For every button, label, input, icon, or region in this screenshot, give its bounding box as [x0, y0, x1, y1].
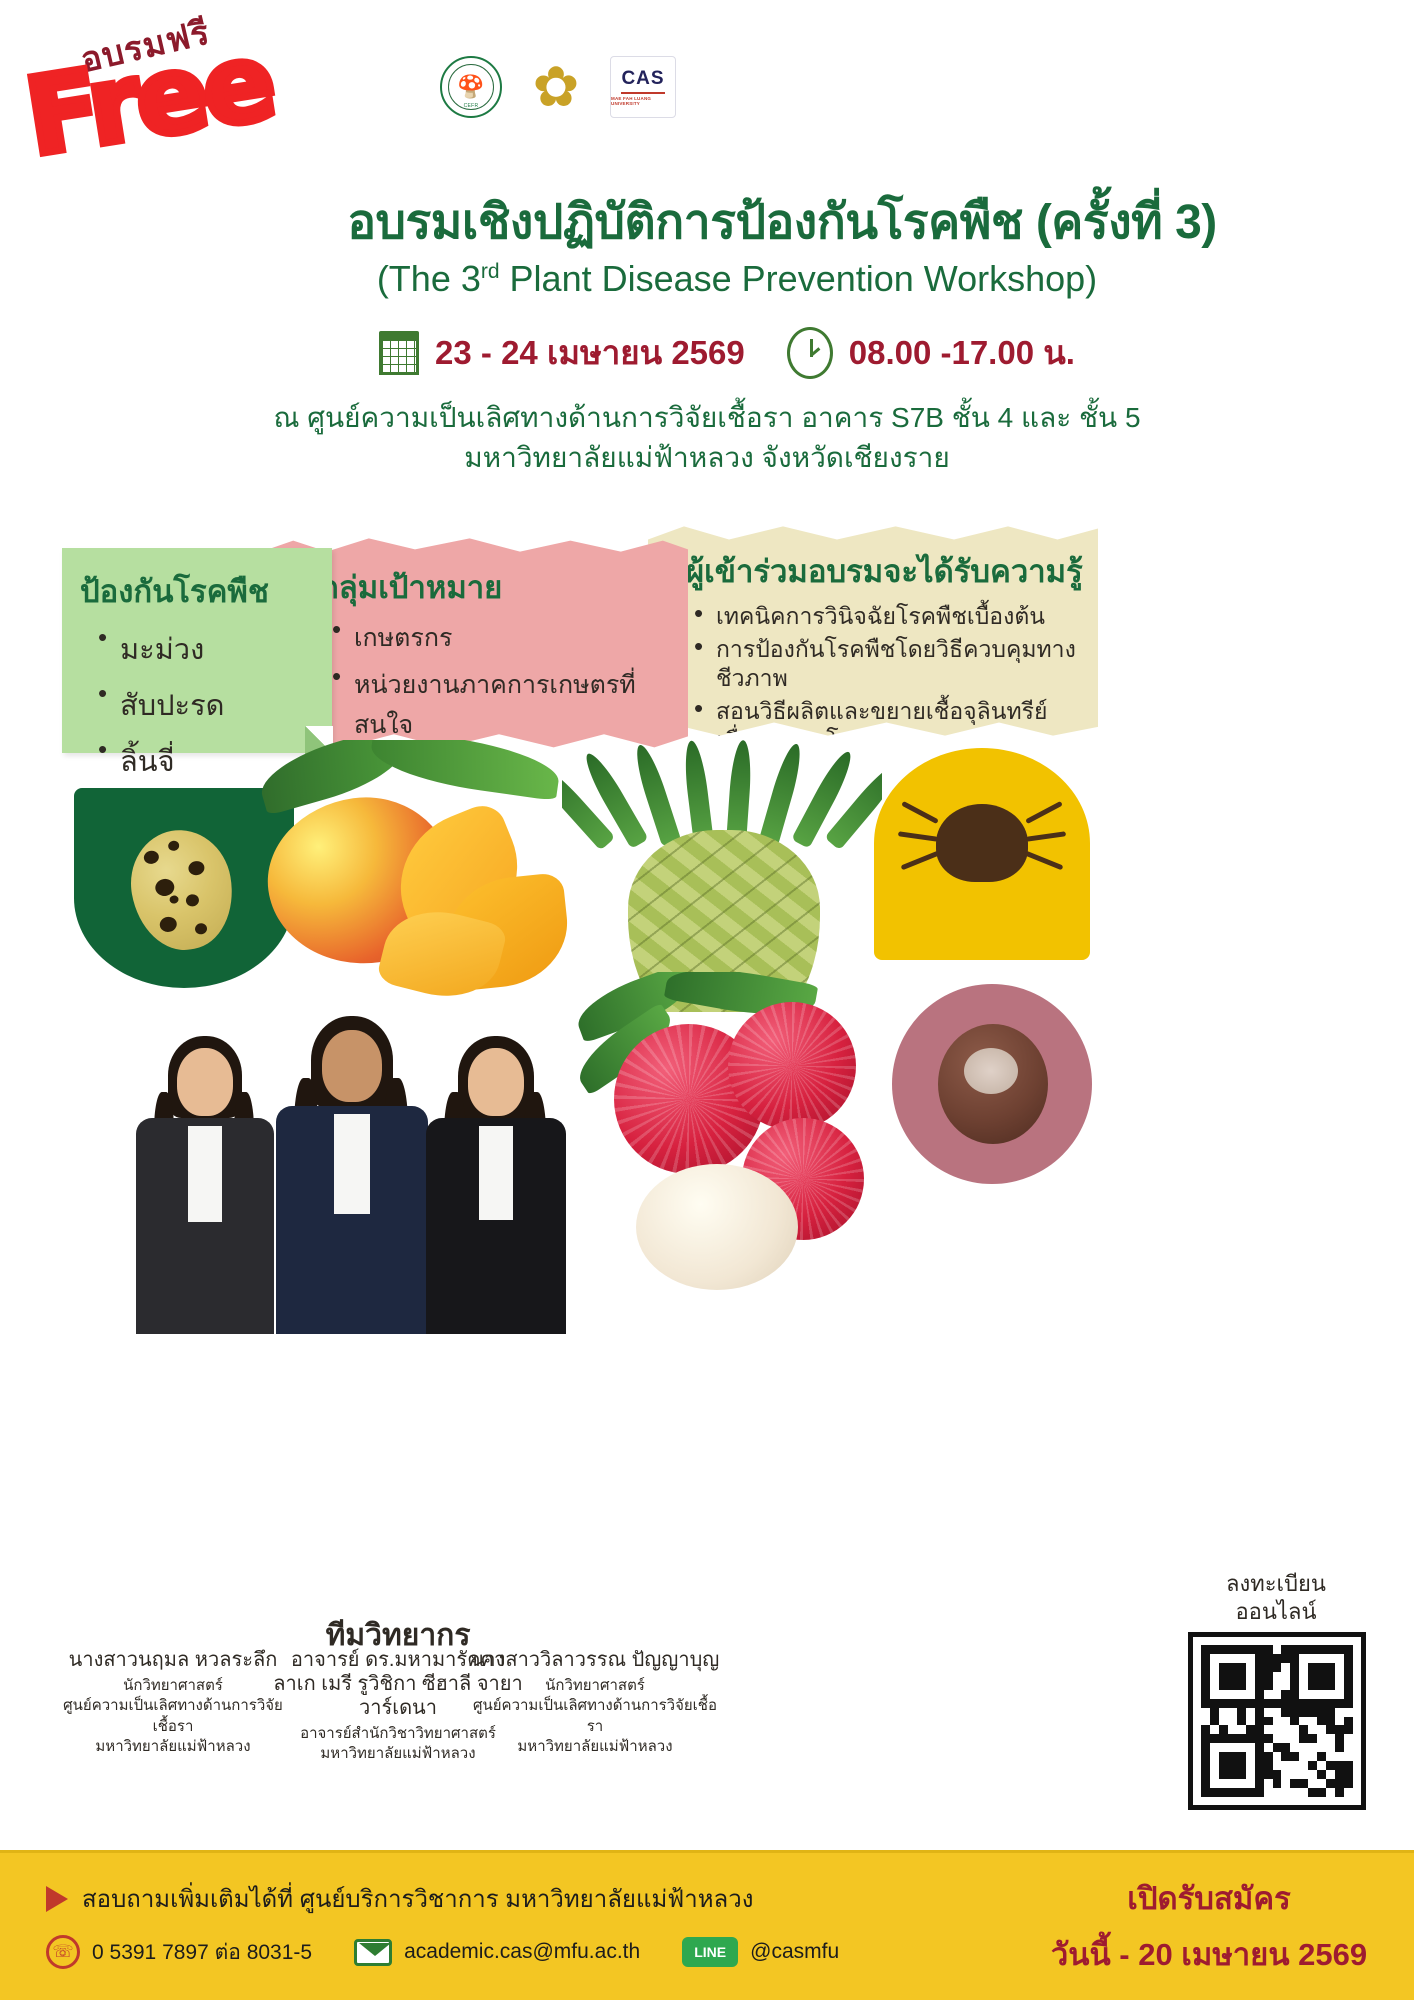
time-group: 08.00 -17.00 น. [787, 326, 1075, 379]
speaker-figure-1 [130, 1034, 280, 1334]
speaker-card-1: นางสาวนฤมล หวลระลึก นักวิทยาศาสตร์ ศูนย์… [58, 1648, 288, 1757]
footer-contact-row: ☏ 0 5391 7897 ต่อ 8031-5 academic.cas@mf… [46, 1935, 839, 1969]
free-badge-label: Free [19, 28, 278, 171]
date-group: 23 - 24 เมษายน 2569 [379, 326, 745, 379]
info-box-crops-heading: ป้องกันโรคพืช [80, 576, 269, 607]
cefr-logo-text: CEFR [442, 103, 500, 109]
footer-cta-line-1: เปิดรับสมัคร [1044, 1873, 1374, 1923]
royal-crest-icon: ✿ [528, 52, 584, 122]
peeled-lychee-image [636, 1164, 798, 1290]
qr-code-pattern [1201, 1645, 1353, 1797]
lychee-photo [570, 972, 870, 1324]
line-app-icon: LINE [682, 1937, 738, 1967]
page-subtitle: (The 3rd Plant Disease Prevention Worksh… [0, 258, 1414, 300]
cefr-logo: 🍄 CEFR [440, 56, 502, 118]
event-date: 23 - 24 เมษายน 2569 [435, 326, 745, 379]
royal-emblem-logo: ✿ [528, 52, 584, 122]
venue-line-2: มหาวิทยาลัยแม่ฟ้าหลวง จังหวัดเชียงราย [0, 438, 1414, 478]
footer-email[interactable]: academic.cas@mfu.ac.th [404, 1940, 640, 1964]
poster-root: อบรมฟรี Free 🍄 CEFR ✿ CAS MAE FAH LUANG … [0, 0, 1414, 2000]
footer-contact-intro: สอบถามเพิ่มเติมได้ที่ ศูนย์บริการวิชาการ… [82, 1879, 753, 1918]
qr-label: ลงทะเบียน ออนไลน์ [1196, 1570, 1356, 1625]
footer-cta: เปิดรับสมัคร วันนี้ - 20 เมษายน 2569 [1044, 1873, 1374, 1979]
info-box-target-group-heading: กลุ่มเป้าหมาย [320, 572, 502, 603]
cas-logo: CAS MAE FAH LUANG UNIVERSITY [610, 56, 676, 118]
speaker-name: นางสาววิลาวรรณ ปัญญาบุญ [470, 1648, 720, 1672]
free-badge: อบรมฟรี Free [9, 0, 297, 173]
qr-label-line-2: ออนไลน์ [1196, 1598, 1356, 1626]
insect-pest-image [936, 804, 1028, 882]
event-time: 08.00 -17.00 น. [849, 326, 1075, 379]
mushroom-icon: 🍄 [457, 76, 484, 98]
subtitle-post: Plant Disease Prevention Workshop) [500, 258, 1098, 299]
pest-thumbnail [874, 748, 1090, 960]
list-item: สับปะรด [92, 682, 225, 728]
list-item: เกษตรกร [326, 618, 688, 658]
image-collage [0, 740, 1414, 1620]
cas-logo-caption: MAE FAH LUANG UNIVERSITY [611, 96, 675, 106]
mango-photo [250, 740, 580, 1040]
speaker-figure-3 [420, 1034, 572, 1334]
speaker-name: นางสาวนฤมล หวลระลึก [58, 1648, 288, 1672]
speaker-role: นักวิทยาศาสตร์ ศูนย์ความเป็นเลิศทางด้านก… [470, 1676, 720, 1757]
page-title: อบรมเชิงปฏิบัติการป้องกันโรคพืช (ครั้งที… [0, 184, 1414, 260]
date-time-row: 23 - 24 เมษายน 2569 08.00 -17.00 น. [0, 326, 1414, 379]
info-box-knowledge-heading: ผู้เข้าร่วมอบรมจะได้รับความรู้ [686, 556, 1083, 587]
cas-logo-bar [621, 92, 665, 94]
venue-block: ณ ศูนย์ความเป็นเลิศทางด้านการวิจัยเชื้อร… [0, 398, 1414, 478]
info-box-crops: ป้องกันโรคพืช มะม่วง สับปะรด ลิ้นจี่ [62, 548, 332, 753]
footer-line-id[interactable]: @casmfu [750, 1940, 839, 1964]
clock-icon [787, 327, 833, 379]
speaker-card-3: นางสาววิลาวรรณ ปัญญาบุญ นักวิทยาศาสตร์ ศ… [470, 1648, 720, 1757]
play-arrow-icon [46, 1886, 68, 1912]
speaker-figure-2 [268, 1016, 436, 1334]
cas-logo-text: CAS [621, 68, 664, 90]
diseased-mango-image [122, 822, 241, 958]
team-photo [110, 998, 580, 1334]
phone-icon: ☏ [46, 1935, 80, 1969]
subtitle-pre: (The 3 [377, 258, 481, 299]
email-icon [354, 1939, 392, 1966]
calendar-icon [379, 331, 419, 375]
mold-patch [964, 1048, 1018, 1094]
lychee-disease-thumbnail [892, 984, 1092, 1184]
venue-line-1: ณ ศูนย์ความเป็นเลิศทางด้านการวิจัยเชื้อร… [0, 398, 1414, 438]
footer-cta-line-2: วันนี้ - 20 เมษายน 2569 [1044, 1929, 1374, 1979]
footer-phone: 0 5391 7897 ต่อ 8031-5 [92, 1936, 312, 1969]
pineapple-crown [588, 734, 858, 844]
list-item: มะม่วง [92, 626, 225, 672]
subtitle-ordinal: rd [481, 260, 500, 283]
footer-contact-intro-row: สอบถามเพิ่มเติมได้ที่ ศูนย์บริการวิชาการ… [46, 1879, 753, 1918]
logo-row: 🍄 CEFR ✿ CAS MAE FAH LUANG UNIVERSITY [440, 52, 676, 122]
list-item: เทคนิคการวินิจฉัยโรคพืชเบื้องต้น [688, 602, 1088, 631]
pineapple-photo [562, 682, 882, 1012]
footer-bar: สอบถามเพิ่มเติมได้ที่ ศูนย์บริการวิชาการ… [0, 1850, 1414, 2000]
speaker-role: นักวิทยาศาสตร์ ศูนย์ความเป็นเลิศทางด้านก… [58, 1676, 288, 1757]
qr-label-line-1: ลงทะเบียน [1196, 1570, 1356, 1598]
registration-qr-code[interactable] [1188, 1632, 1366, 1810]
